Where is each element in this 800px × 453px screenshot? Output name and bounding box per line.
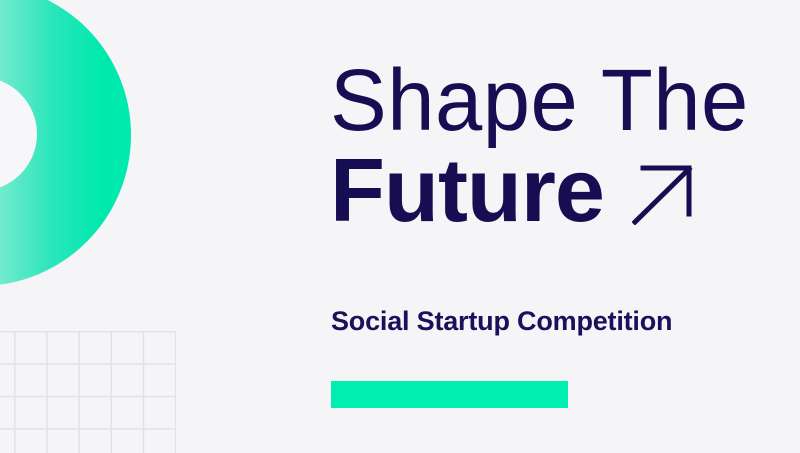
poster-canvas: Shape The Future Social Startup Competit… — [0, 0, 800, 453]
headline-line-1: Shape The — [330, 58, 770, 144]
green-accent-bar — [331, 381, 568, 408]
gradient-donut-ring — [0, 0, 131, 286]
ring-inner-hole — [0, 77, 37, 191]
arrow-up-right-icon — [632, 163, 694, 225]
headline-line-2-row: Future — [330, 149, 770, 235]
headline-block: Shape The Future — [330, 58, 770, 235]
background-grid-pattern-decor — [0, 331, 176, 453]
subtitle-text: Social Startup Competition — [331, 306, 672, 337]
ring-outer-disc — [0, 0, 131, 286]
headline-line-2: Future — [330, 149, 604, 235]
